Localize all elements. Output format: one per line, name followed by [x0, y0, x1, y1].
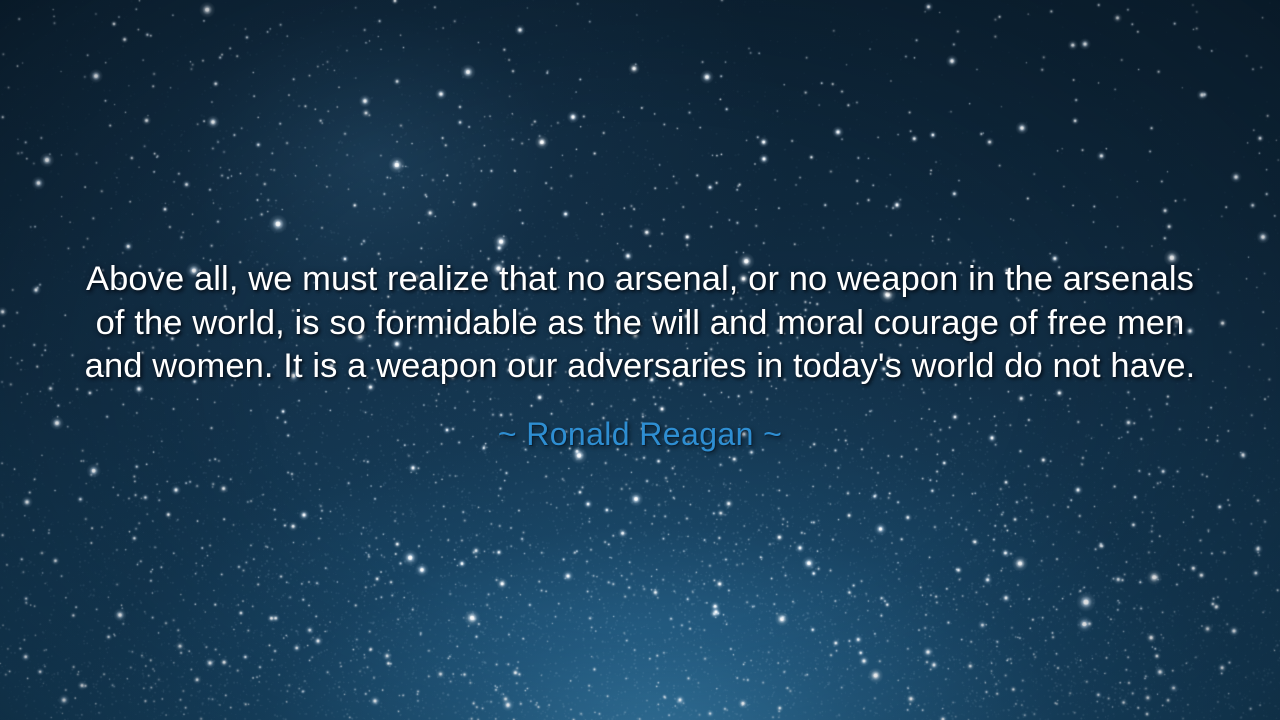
quote-text: Above all, we must realize that no arsen… — [84, 258, 1196, 389]
quote-block: Above all, we must realize that no arsen… — [0, 258, 1280, 453]
quote-attribution: ~ Ronald Reagan ~ — [498, 415, 782, 453]
wallpaper-canvas: Above all, we must realize that no arsen… — [0, 0, 1280, 720]
